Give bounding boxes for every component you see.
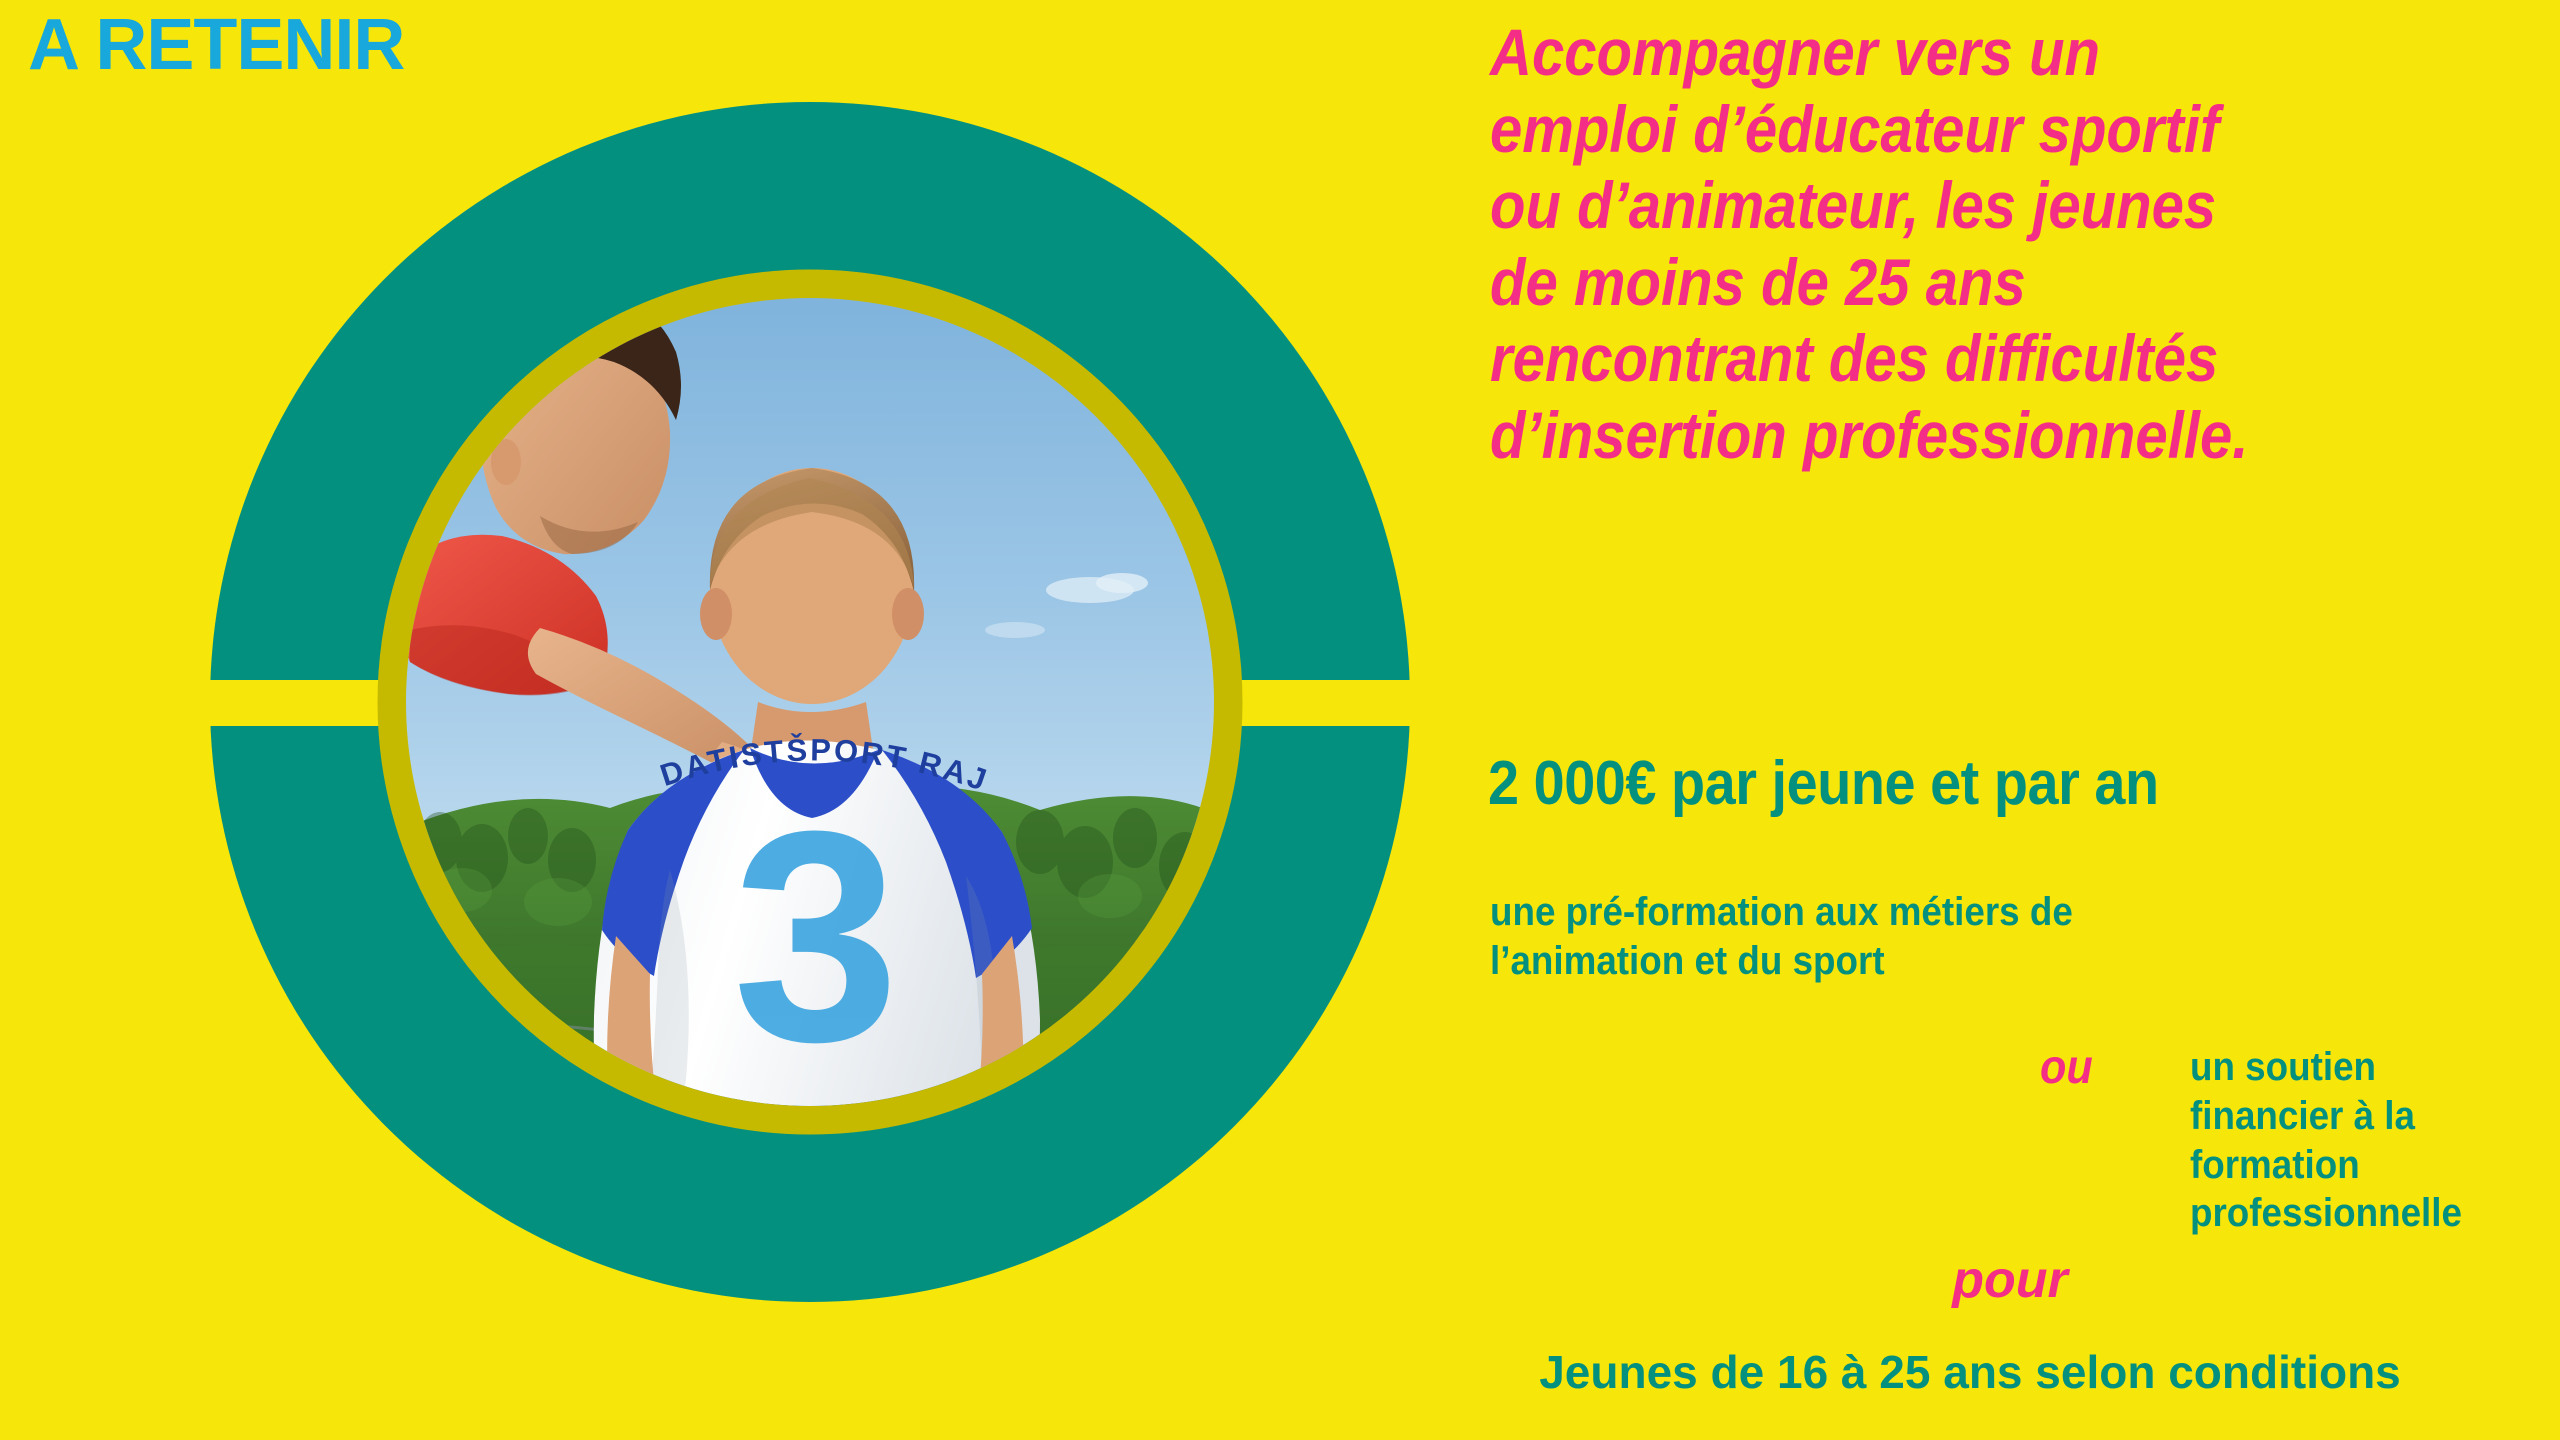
circle-graphic-svg: DATISTŠPORT RAJEC 3 bbox=[110, 30, 1510, 1430]
option-a-text: une pré-formation aux métiers de l’anima… bbox=[1490, 888, 2410, 986]
connector-ou: ou bbox=[2040, 1040, 2093, 1095]
page-title: A RETENIR bbox=[28, 4, 404, 86]
eligibility-text: Jeunes de 16 à 25 ans selon conditions bbox=[1380, 1345, 2560, 1399]
option-b-text: un soutien financier à la formation prof… bbox=[2190, 1043, 2540, 1238]
circle-graphic: DATISTŠPORT RAJEC 3 bbox=[110, 30, 1510, 1430]
connector-pour: pour bbox=[1470, 1250, 2550, 1310]
jersey-number: 3 bbox=[733, 768, 900, 1104]
lede-paragraph: Accompagner vers un emploi d’éducateur s… bbox=[1490, 14, 2436, 473]
amount-heading: 2 000€ par jeune et par an bbox=[1488, 748, 2159, 819]
content-column: Accompagner vers un emploi d’éducateur s… bbox=[1470, 0, 2560, 1440]
poster-canvas: A RETENIR bbox=[0, 0, 2560, 1440]
